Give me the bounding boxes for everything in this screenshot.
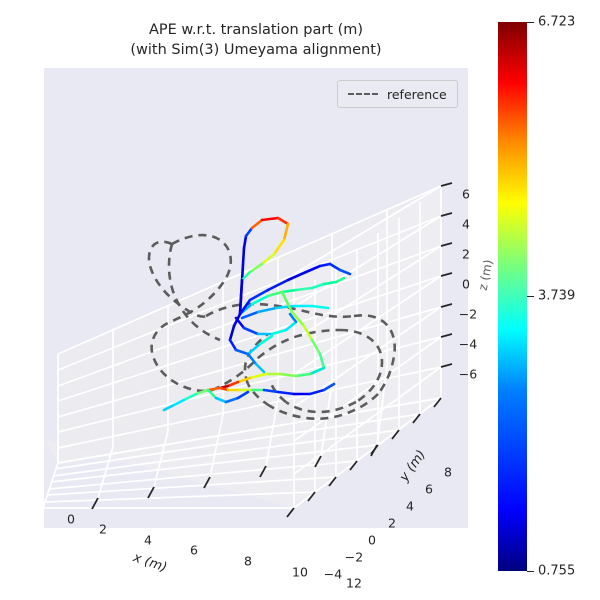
z-axis-label: z (m) bbox=[476, 258, 496, 291]
ztick-label-1: 4 bbox=[462, 217, 470, 232]
legend-label-reference: reference bbox=[387, 87, 447, 102]
xtick-label-4: 8 bbox=[244, 554, 252, 569]
legend-line-reference bbox=[348, 93, 378, 95]
plot-axes-3d[interactable] bbox=[44, 68, 468, 528]
ytick-label-2: 0 bbox=[368, 533, 376, 548]
legend[interactable]: reference bbox=[337, 80, 458, 108]
ytick-label-4: 4 bbox=[406, 499, 414, 514]
ytick-label-6: 8 bbox=[444, 465, 452, 480]
ytick-label-5: 6 bbox=[425, 482, 433, 497]
ztick-label-3: 0 bbox=[462, 277, 470, 292]
ztick-label-6: −6 bbox=[459, 367, 477, 382]
page-title: APE w.r.t. translation part (m) (with Si… bbox=[44, 20, 468, 60]
colorbar-label-max: 6.723 bbox=[538, 15, 575, 30]
xtick-label-1: 2 bbox=[99, 522, 107, 537]
ztick-label-5: −4 bbox=[459, 337, 477, 352]
xtick-label-3: 6 bbox=[190, 543, 198, 558]
colorbar-label-min: 0.755 bbox=[538, 564, 575, 579]
ytick-label-3: 2 bbox=[388, 516, 396, 531]
xtick-label-5: 10 bbox=[292, 565, 308, 580]
colorbar-tick-min bbox=[527, 571, 534, 572]
xtick-label-6: 12 bbox=[346, 576, 362, 591]
xtick-label-0: 0 bbox=[67, 512, 75, 527]
ytick-label-0: −4 bbox=[324, 567, 342, 582]
colorbar-tick-mid bbox=[527, 296, 534, 297]
axes-panes bbox=[44, 183, 452, 519]
ztick-label-2: 2 bbox=[462, 247, 470, 262]
ztick-label-4: −2 bbox=[459, 307, 477, 322]
x-axis-label: x (m) bbox=[131, 550, 169, 575]
figure-canvas: APE w.r.t. translation part (m) (with Si… bbox=[0, 0, 600, 600]
colorbar-label-mid: 3.739 bbox=[538, 289, 575, 304]
ticks-z-axis bbox=[441, 183, 452, 367]
xtick-label-2: 4 bbox=[144, 533, 152, 548]
axes-svg bbox=[44, 68, 468, 528]
ytick-label-1: −2 bbox=[345, 550, 363, 565]
colorbar[interactable] bbox=[498, 22, 527, 571]
ztick-label-0: 6 bbox=[462, 187, 470, 202]
colorbar-tick-max bbox=[527, 22, 534, 23]
